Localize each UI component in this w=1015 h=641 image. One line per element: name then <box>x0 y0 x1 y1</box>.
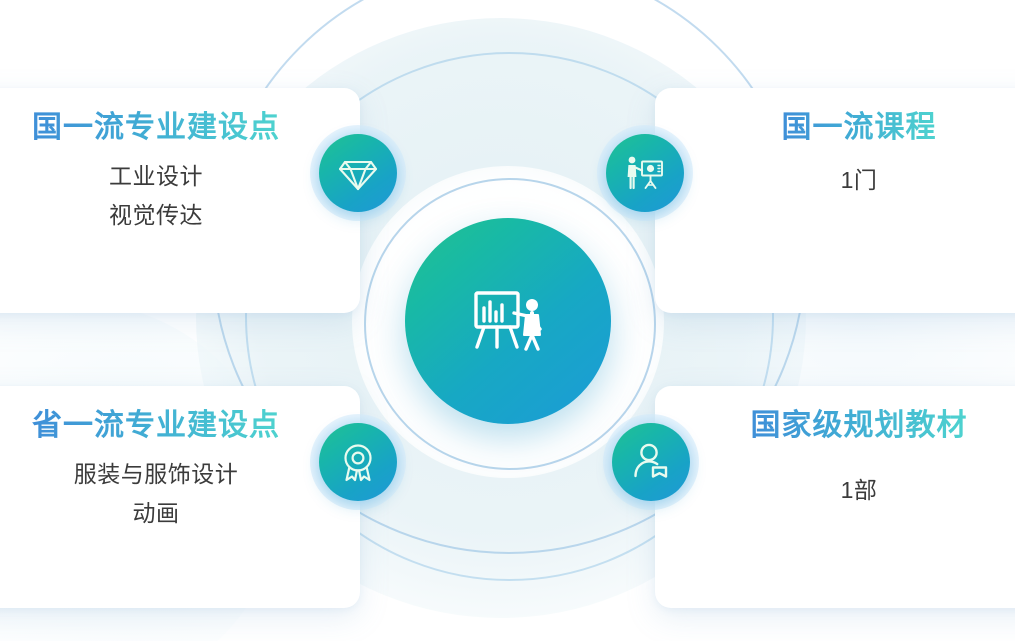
medal-award-icon <box>335 439 381 485</box>
badge-bottom-right[interactable] <box>603 414 699 510</box>
diamond-gem-icon <box>336 151 380 195</box>
center-hub <box>405 218 611 424</box>
presentation-teaching-icon <box>462 275 554 367</box>
badge-top-left[interactable] <box>310 125 406 221</box>
card-body: 1部 <box>841 474 878 507</box>
infographic-stage: 国一流专业建设点 工业设计 视觉传达 国一流课程 1门 省一流专业建设点 服装与… <box>0 0 1015 641</box>
lecture-presenter-icon <box>622 150 668 196</box>
card-body: 工业设计 视觉传达 <box>109 160 203 233</box>
card-title: 国一流课程 <box>782 110 937 146</box>
card-top-right[interactable]: 国一流课程 1门 <box>655 88 1015 313</box>
person-book-icon <box>628 439 674 485</box>
card-top-left[interactable]: 国一流专业建设点 工业设计 视觉传达 <box>0 88 360 313</box>
card-body: 1门 <box>841 164 878 197</box>
card-bottom-right[interactable]: 国家级规划教材 1部 <box>655 386 1015 608</box>
card-line: 1部 <box>841 474 878 507</box>
card-line: 1门 <box>841 164 878 197</box>
card-title: 国一流专业建设点 <box>32 110 280 146</box>
badge-top-right[interactable] <box>597 125 693 221</box>
card-line: 服装与服饰设计 <box>74 458 239 491</box>
card-title: 省一流专业建设点 <box>32 408 280 444</box>
badge-bottom-left[interactable] <box>310 414 406 510</box>
card-line: 视觉传达 <box>109 199 203 232</box>
card-line: 工业设计 <box>109 160 203 193</box>
card-body: 服装与服饰设计 动画 <box>74 458 239 531</box>
card-bottom-left[interactable]: 省一流专业建设点 服装与服饰设计 动画 <box>0 386 360 608</box>
card-line: 动画 <box>133 497 180 530</box>
card-title: 国家级规划教材 <box>751 408 968 444</box>
